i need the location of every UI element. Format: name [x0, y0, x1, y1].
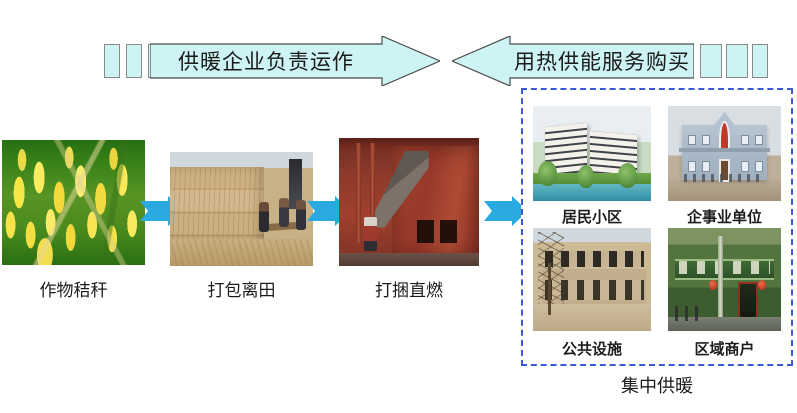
institution-building-photo [668, 106, 781, 201]
public-facility-photo [533, 228, 651, 331]
biomass-boiler-photo [339, 138, 479, 266]
consumer-caption-1: 居民小区 [533, 206, 651, 227]
decor-tick-left-2 [126, 44, 142, 78]
decor-tick-right-2 [726, 44, 748, 78]
residential-community-photo [533, 106, 651, 201]
local-merchant-photo [668, 228, 781, 331]
decor-tick-right-3 [752, 44, 768, 78]
consumer-caption-2: 企事业单位 [668, 206, 781, 227]
step-caption-3: 打捆直燃 [339, 276, 479, 301]
corn-field-photo [2, 140, 145, 265]
step-caption-2: 打包离田 [170, 276, 313, 301]
diagram-canvas: 供暖企业负责运作 用热供能服务购买 作物秸秆 打包离田 [0, 0, 797, 413]
straw-bales-photo [170, 152, 313, 266]
consumer-caption-3: 公共设施 [533, 338, 651, 359]
decor-tick-left-1 [104, 44, 120, 78]
group-title: 集中供暖 [521, 372, 793, 398]
banner-row: 供暖企业负责运作 用热供能服务购买 [0, 36, 797, 86]
step-caption-1: 作物秸秆 [2, 276, 145, 301]
left-banner-label: 供暖企业负责运作 [150, 36, 382, 86]
consumer-caption-4: 区域商户 [668, 338, 781, 359]
decor-tick-right-1 [700, 44, 722, 78]
right-banner-label: 用热供能服务购买 [510, 36, 694, 86]
